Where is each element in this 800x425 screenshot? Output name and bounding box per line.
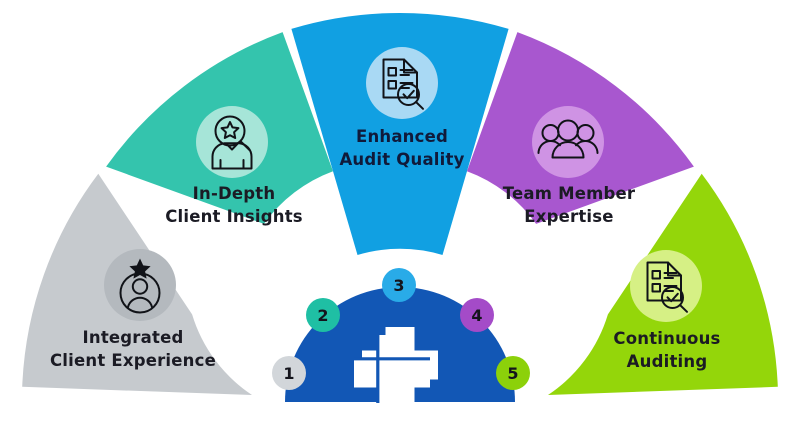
segment-2-label-line1: In-Depth bbox=[193, 184, 276, 203]
segment-2-in-depth-client-insights[interactable]: In-Depth Client Insights bbox=[106, 32, 333, 226]
segment-2-label-line2: Client Insights bbox=[165, 207, 303, 226]
badge-5-number: 5 bbox=[507, 364, 518, 383]
badge-3[interactable]: 3 bbox=[382, 268, 416, 302]
segment-3-label-line1: Enhanced bbox=[356, 127, 448, 146]
infographic-canvas: Integrated Client Experience In-Depth Cl… bbox=[0, 0, 800, 425]
baseline-mask bbox=[0, 403, 800, 425]
badge-2-number: 2 bbox=[317, 306, 328, 325]
segment-3-label-line2: Audit Quality bbox=[339, 150, 464, 169]
segment-1-label-line2: Client Experience bbox=[50, 351, 216, 370]
segment-5-label-line2: Auditing bbox=[627, 352, 708, 371]
segment-3-enhanced-audit-quality[interactable]: Enhanced Audit Quality bbox=[291, 13, 508, 255]
badge-4-number: 4 bbox=[471, 306, 482, 325]
segment-1-label-line1: Integrated bbox=[83, 328, 184, 347]
badge-4[interactable]: 4 bbox=[460, 298, 494, 332]
semicircle-wheel-diagram: Integrated Client Experience In-Depth Cl… bbox=[0, 0, 800, 425]
badge-1-number: 1 bbox=[283, 364, 294, 383]
badge-5[interactable]: 5 bbox=[496, 356, 530, 390]
badge-1[interactable]: 1 bbox=[272, 356, 306, 390]
segment-5-label-line1: Continuous bbox=[613, 329, 720, 348]
segment-4-label-line1: Team Member bbox=[503, 184, 636, 203]
badge-2[interactable]: 2 bbox=[306, 298, 340, 332]
segment-4-label-line2: Expertise bbox=[524, 207, 613, 226]
badge-3-number: 3 bbox=[393, 276, 404, 295]
segment-4-team-member-expertise[interactable]: Team Member Expertise bbox=[467, 32, 694, 226]
